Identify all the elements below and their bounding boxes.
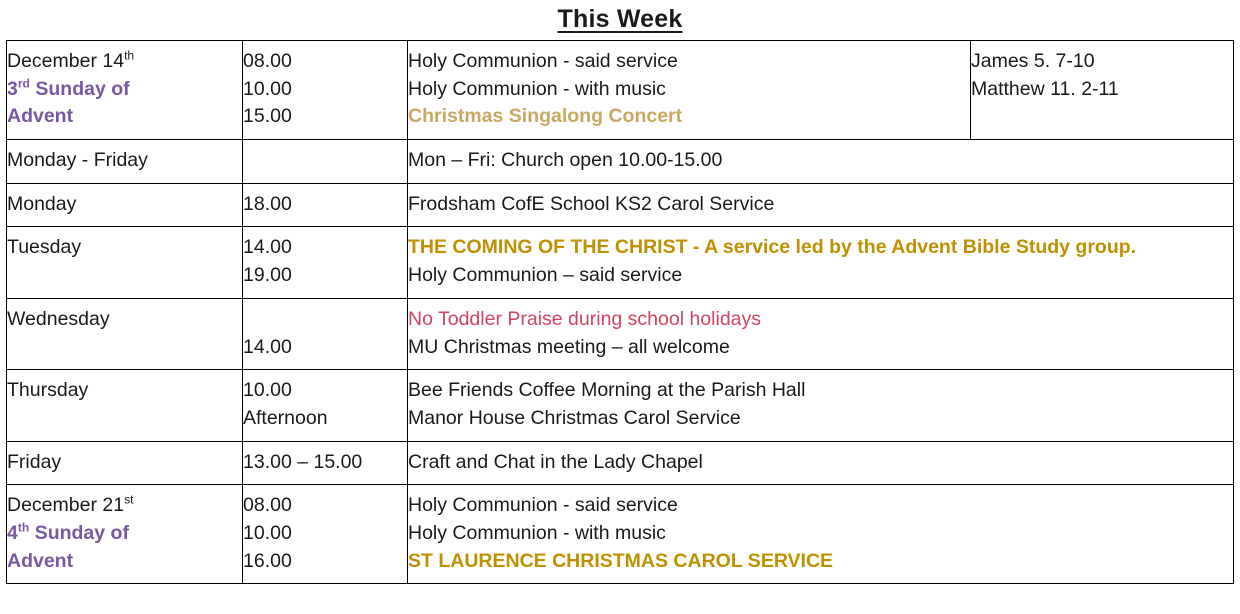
cell-day: December 21st4th Sunday ofAdvent <box>7 485 243 584</box>
day-line: December 14th <box>7 48 242 76</box>
ordinal-suffix: th <box>124 49 134 63</box>
cell-day: Friday <box>7 441 243 485</box>
time-line: 14.00 <box>243 334 407 362</box>
time-line: 08.00 <box>243 492 407 520</box>
table-row: Friday13.00 – 15.00Craft and Chat in the… <box>7 441 1234 485</box>
time-line: 10.00 <box>243 76 407 104</box>
day-line: December 21st <box>7 492 242 520</box>
day-line: 4th Sunday of <box>7 520 242 548</box>
event-line: Holy Communion – said service <box>408 262 1233 290</box>
event-line: Holy Communion - with music <box>408 76 970 104</box>
schedule-table-wrapper: December 14th3rd Sunday ofAdvent08.0010.… <box>6 40 1233 584</box>
title-bar: This Week <box>0 0 1240 38</box>
event-line: Christmas Singalong Concert <box>408 103 970 131</box>
event-line: ST LAURENCE CHRISTMAS CAROL SERVICE <box>408 548 1233 576</box>
event-line: Craft and Chat in the Lady Chapel <box>408 449 1233 477</box>
event-line: No Toddler Praise during school holidays <box>408 306 1233 334</box>
cell-event: No Toddler Praise during school holidays… <box>408 298 1234 369</box>
table-row: Thursday10.00AfternoonBee Friends Coffee… <box>7 370 1234 441</box>
cell-event: THE COMING OF THE CHRIST - A service led… <box>408 227 1234 298</box>
time-line: 14.00 <box>243 234 407 262</box>
cell-day: Monday - Friday <box>7 140 243 184</box>
day-line: Wednesday <box>7 306 242 334</box>
cell-time: 13.00 – 15.00 <box>243 441 408 485</box>
time-line <box>243 306 407 334</box>
cell-day: Monday <box>7 183 243 227</box>
reading-line: Matthew 11. 2-11 <box>971 76 1233 104</box>
day-line: Advent <box>7 548 242 576</box>
time-line: 15.00 <box>243 103 407 131</box>
cell-event: Holy Communion - said serviceHoly Commun… <box>408 41 971 140</box>
event-line: MU Christmas meeting – all welcome <box>408 334 1233 362</box>
cell-day: Thursday <box>7 370 243 441</box>
day-line: 3rd Sunday of <box>7 76 242 104</box>
cell-time <box>243 140 408 184</box>
ordinal-suffix: th <box>18 520 29 534</box>
cell-time: 08.0010.0016.00 <box>243 485 408 584</box>
cell-event: Craft and Chat in the Lady Chapel <box>408 441 1234 485</box>
cell-event: Bee Friends Coffee Morning at the Parish… <box>408 370 1234 441</box>
time-line: 19.00 <box>243 262 407 290</box>
table-row: December 21st4th Sunday ofAdvent08.0010.… <box>7 485 1234 584</box>
table-row: December 14th3rd Sunday ofAdvent08.0010.… <box>7 41 1234 140</box>
cell-time: 10.00Afternoon <box>243 370 408 441</box>
cell-day: Wednesday <box>7 298 243 369</box>
time-line: 13.00 – 15.00 <box>243 449 407 477</box>
cell-event: Frodsham CofE School KS2 Carol Service <box>408 183 1234 227</box>
time-line: 18.00 <box>243 191 407 219</box>
this-week-schedule-page: This Week December 14th3rd Sunday ofAdve… <box>0 0 1240 614</box>
cell-day: December 14th3rd Sunday ofAdvent <box>7 41 243 140</box>
event-line: Bee Friends Coffee Morning at the Parish… <box>408 377 1233 405</box>
reading-line: James 5. 7-10 <box>971 48 1233 76</box>
event-line: THE COMING OF THE CHRIST - A service led… <box>408 234 1233 262</box>
time-line: 10.00 <box>243 377 407 405</box>
table-row: Monday18.00Frodsham CofE School KS2 Caro… <box>7 183 1234 227</box>
ordinal-suffix: rd <box>18 76 30 90</box>
ordinal-suffix: st <box>124 493 133 507</box>
cell-day: Tuesday <box>7 227 243 298</box>
day-line: Friday <box>7 449 242 477</box>
event-line: Holy Communion - said service <box>408 48 970 76</box>
event-line: Holy Communion - with music <box>408 520 1233 548</box>
event-line: Holy Communion - said service <box>408 492 1233 520</box>
event-line: Manor House Christmas Carol Service <box>408 405 1233 433</box>
day-line: Advent <box>7 103 242 131</box>
page-title: This Week <box>558 7 683 32</box>
cell-time: 18.00 <box>243 183 408 227</box>
time-line: 16.00 <box>243 548 407 576</box>
time-line: 08.00 <box>243 48 407 76</box>
day-line: Monday - Friday <box>7 147 242 175</box>
day-line: Thursday <box>7 377 242 405</box>
event-line: Mon – Fri: Church open 10.00-15.00 <box>408 147 1233 175</box>
day-line: Tuesday <box>7 234 242 262</box>
cell-time: 08.0010.0015.00 <box>243 41 408 140</box>
event-line: Frodsham CofE School KS2 Carol Service <box>408 191 1233 219</box>
table-row: Tuesday14.0019.00THE COMING OF THE CHRIS… <box>7 227 1234 298</box>
schedule-table-body: December 14th3rd Sunday ofAdvent08.0010.… <box>7 41 1234 584</box>
cell-event: Holy Communion - said serviceHoly Commun… <box>408 485 1234 584</box>
table-row: Monday - Friday Mon – Fri: Church open 1… <box>7 140 1234 184</box>
time-line: Afternoon <box>243 405 407 433</box>
time-line: 10.00 <box>243 520 407 548</box>
cell-event: Mon – Fri: Church open 10.00-15.00 <box>408 140 1234 184</box>
cell-readings: James 5. 7-10Matthew 11. 2-11 <box>971 41 1234 140</box>
day-line: Monday <box>7 191 242 219</box>
table-row: Wednesday 14.00No Toddler Praise during … <box>7 298 1234 369</box>
cell-time: 14.0019.00 <box>243 227 408 298</box>
time-line <box>243 147 407 175</box>
cell-time: 14.00 <box>243 298 408 369</box>
schedule-table: December 14th3rd Sunday ofAdvent08.0010.… <box>6 40 1234 584</box>
